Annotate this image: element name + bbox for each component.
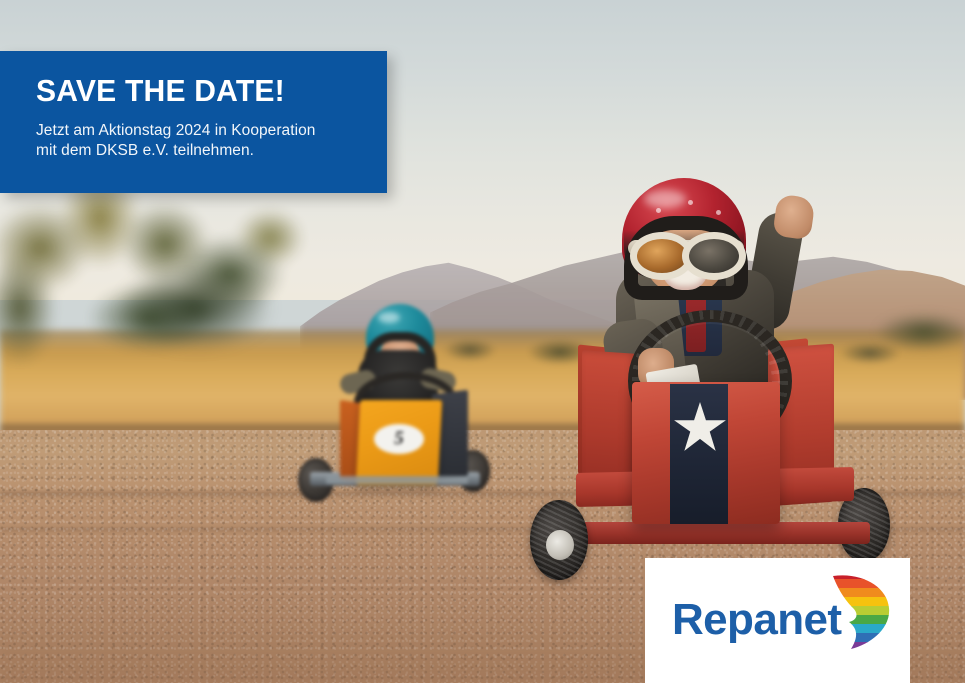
helmet-vent (656, 208, 661, 213)
kart-axle (560, 522, 870, 544)
helmet-vent (688, 200, 693, 205)
helmet-highlight (644, 190, 686, 208)
kart-frame-rail (326, 476, 468, 484)
kart-nose-stripe (670, 384, 728, 524)
goggle-lens-right (682, 232, 746, 280)
poster-canvas: 5 (0, 0, 965, 683)
helmet-highlight (378, 312, 400, 323)
repanet-logo-box[interactable]: Repanet (645, 558, 910, 683)
red-star-kart (520, 170, 900, 620)
wheel-hubcap (546, 530, 574, 560)
dark-foliage-left (90, 248, 300, 368)
repanet-wordmark: Repanet (672, 598, 841, 642)
helmet-vent (716, 210, 721, 215)
callout-subtitle: Jetzt am Aktionstag 2024 in Kooperation … (36, 121, 315, 161)
rainbow-swoosh-icon (827, 570, 893, 650)
save-the-date-callout: SAVE THE DATE! Jetzt am Aktionstag 2024 … (0, 51, 387, 193)
driver-fist (772, 194, 815, 241)
kart-race-number: 5 (374, 424, 424, 454)
callout-headline: SAVE THE DATE! (36, 75, 285, 106)
yellow-number-kart: 5 (296, 300, 496, 515)
